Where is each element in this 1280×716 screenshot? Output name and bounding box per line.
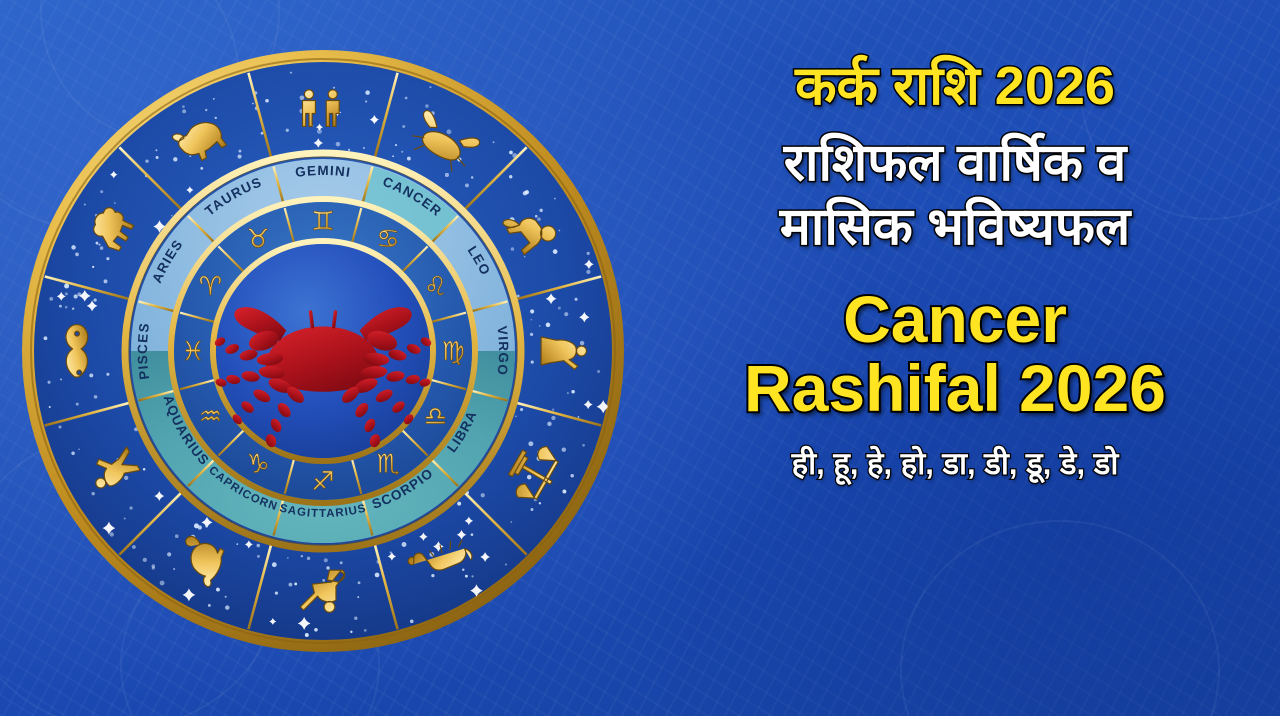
sign-symbol-sagittarius: ♐	[311, 467, 334, 497]
zodiac-wheel: ARIESTAURUSGEMINICANCERLEOVIRGOLIBRASCOR…	[21, 49, 625, 653]
title-english-sign: Cancer	[843, 285, 1067, 354]
sign-symbol-gemini: ♊	[311, 207, 334, 237]
headline-panel: कर्क राशि 2026 राशिफल वार्षिक व मासिक भव…	[630, 0, 1280, 716]
sign-symbol-scorpio: ♏	[376, 450, 399, 480]
sign-symbol-virgo: ♍	[441, 337, 464, 367]
sign-name-virgo: VIRGO	[494, 325, 511, 377]
subtitle-line-2: मासिक भविष्यफल	[780, 196, 1130, 259]
sign-name-gemini: GEMINI	[294, 163, 352, 180]
sign-symbol-leo: ♌	[424, 272, 447, 302]
sign-symbol-aries: ♈	[199, 272, 222, 302]
sign-name-pisces: PISCES	[135, 321, 152, 380]
sign-symbol-aquarius: ♒	[199, 402, 222, 432]
poster-canvas: ARIESTAURUSGEMINICANCERLEOVIRGOLIBRASCOR…	[0, 0, 1280, 716]
title-english-rashifal-year: Rashifal 2026	[744, 354, 1166, 423]
zodiac-wheel-graphic: ARIESTAURUSGEMINICANCERLEOVIRGOLIBRASCOR…	[21, 49, 625, 653]
sign-symbol-pisces: ♓	[181, 337, 204, 367]
sign-symbol-taurus: ♉	[246, 224, 269, 254]
name-syllables: ही, हू, हे, हो, डा, डी, डू, डे, डो	[792, 445, 1119, 482]
subtitle-line-1: राशिफल वार्षिक व	[784, 132, 1127, 195]
title-line-hindi-year: कर्क राशि 2026	[795, 56, 1115, 116]
sign-symbol-cancer: ♋	[376, 224, 399, 254]
sign-symbol-libra: ♎	[424, 402, 447, 432]
sign-symbol-capricorn: ♑	[246, 450, 269, 480]
